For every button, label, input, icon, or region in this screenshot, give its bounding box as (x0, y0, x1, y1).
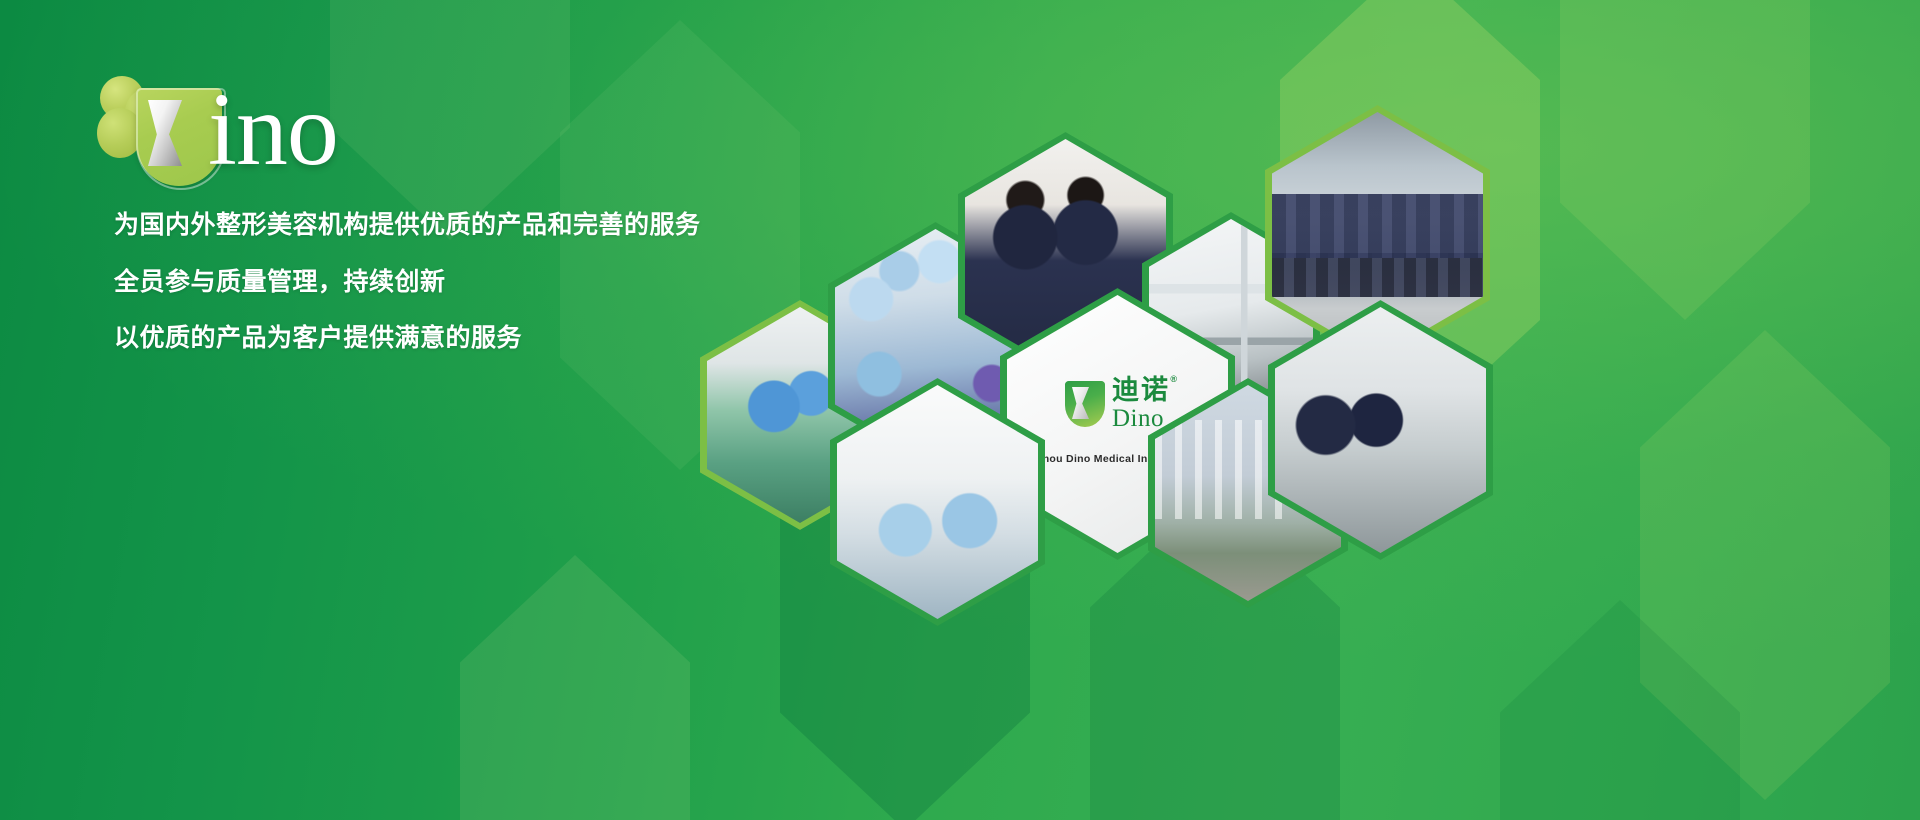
hexagon-photo-collage: 迪诺® Dino Hangzhou Dino Medical Instrumen… (0, 0, 1920, 820)
hero-banner: ino 为国内外整形美容机构提供优质的产品和完善的服务 全员参与质量管理，持续创… (0, 0, 1920, 820)
brand-name-cn: 迪诺® (1112, 377, 1170, 404)
dino-mark-icon (1065, 381, 1105, 427)
brand-names: 迪诺® Dino (1112, 377, 1170, 431)
brand-logo-row: 迪诺® Dino (1065, 377, 1170, 431)
brand-name-en: Dino (1112, 406, 1164, 431)
registered-mark-icon: ® (1170, 375, 1179, 384)
